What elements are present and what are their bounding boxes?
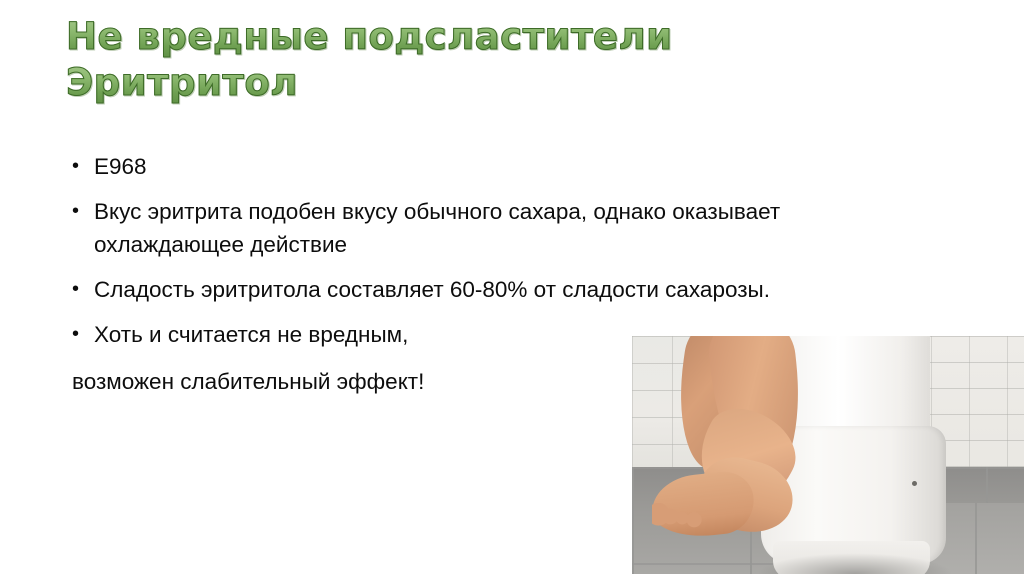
list-item-label: Вкус эритрита подобен вкусу обычного сах…	[94, 195, 934, 261]
list-item: • Сладость эритритола составляет 60-80% …	[72, 273, 952, 306]
bullet-icon: •	[72, 318, 94, 351]
page-title: Не вредные подсластители Эритритол	[66, 14, 946, 106]
list-item-label: Сладость эритритола составляет 60-80% от…	[94, 273, 952, 306]
list-item: • E968	[72, 150, 952, 183]
bullet-icon: •	[72, 273, 94, 306]
title-line-2: Эритритол	[66, 60, 946, 106]
toilet-shadow	[757, 553, 953, 574]
list-item-label: E968	[94, 150, 952, 183]
bullet-icon: •	[72, 195, 94, 228]
slide: Не вредные подсластители Эритритол • E96…	[0, 0, 1024, 574]
list-item: • Вкус эритрита подобен вкусу обычного с…	[72, 195, 952, 261]
title-line-1: Не вредные подсластители	[66, 14, 946, 60]
bullet-icon: •	[72, 150, 94, 183]
person-on-toilet-photo	[632, 336, 1024, 574]
toes	[652, 503, 707, 532]
